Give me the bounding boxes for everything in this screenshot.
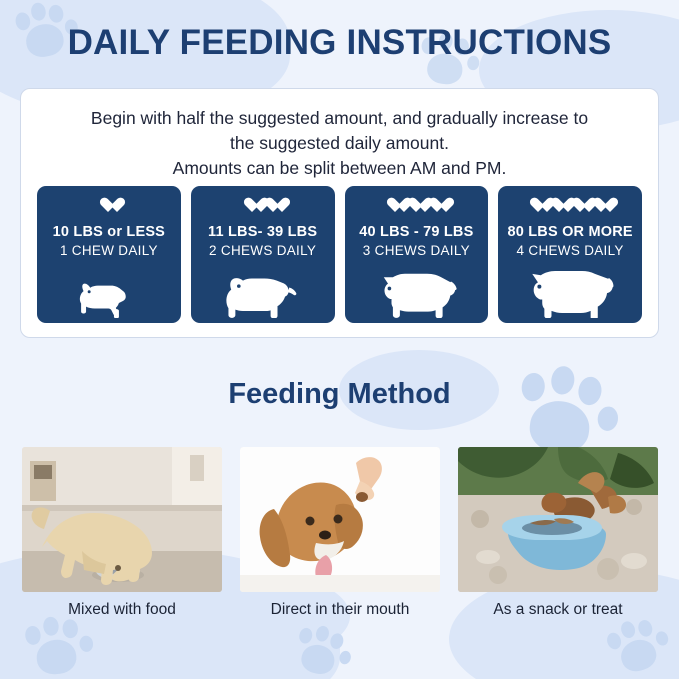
photo-item: Mixed with food xyxy=(22,447,222,619)
heart-icon xyxy=(244,198,261,214)
heart-icons xyxy=(502,195,638,217)
dosage-tile: 11 LBS- 39 LBS 2 CHEWS DAILY xyxy=(191,186,335,323)
tile-weight-label: 11 LBS- 39 LBS xyxy=(195,224,331,240)
page-title: DAILY FEEDING INSTRUCTIONS xyxy=(0,22,679,64)
feeding-method-title: Feeding Method xyxy=(0,378,679,411)
photo-caption: As a snack or treat xyxy=(458,601,658,619)
heart-icons xyxy=(41,195,177,217)
instructions-note: Begin with half the suggested amount, an… xyxy=(21,89,658,181)
tile-weight-label: 10 LBS or LESS xyxy=(41,224,177,240)
dog-eating-from-bowl-photo xyxy=(22,447,222,592)
tile-dose-label: 4 CHEWS DAILY xyxy=(502,243,638,258)
small-dog-icon xyxy=(37,272,181,318)
tile-weight-label: 80 LBS OR MORE xyxy=(502,224,638,240)
dosage-tile: 10 LBS or LESS 1 CHEW DAILY xyxy=(37,186,181,323)
heart-icon xyxy=(572,198,589,214)
heart-icon xyxy=(100,198,117,214)
large-dog-icon xyxy=(345,272,489,318)
medium-dog-icon xyxy=(191,272,335,318)
photo-caption: Mixed with food xyxy=(22,601,222,619)
heart-icon xyxy=(429,198,446,214)
heart-icons xyxy=(195,195,331,217)
tile-dose-label: 1 CHEW DAILY xyxy=(41,243,177,258)
heart-icon xyxy=(387,198,404,214)
heart-icons xyxy=(349,195,485,217)
feeding-instructions-page: DAILY FEEDING INSTRUCTIONS Begin with ha… xyxy=(0,0,679,679)
note-line-1: Begin with half the suggested amount, an… xyxy=(49,106,630,131)
bowl-with-treats-photo xyxy=(458,447,658,592)
tile-weight-label: 40 LBS - 79 LBS xyxy=(349,224,485,240)
heart-icon xyxy=(551,198,568,214)
photo-item: Direct in their mouth xyxy=(240,447,440,619)
tile-dose-label: 3 CHEWS DAILY xyxy=(349,243,485,258)
dosage-tiles: 10 LBS or LESS 1 CHEW DAILY 11 LBS- 39 L… xyxy=(37,186,642,323)
tile-dose-label: 2 CHEWS DAILY xyxy=(195,243,331,258)
heart-icon xyxy=(593,198,610,214)
dosage-tile: 40 LBS - 79 LBS 3 CHEWS DAILY xyxy=(345,186,489,323)
heart-icon xyxy=(408,198,425,214)
note-line-3: Amounts can be split between AM and PM. xyxy=(49,156,630,181)
heart-icon xyxy=(265,198,282,214)
photo-item: As a snack or treat xyxy=(458,447,658,619)
instructions-card: Begin with half the suggested amount, an… xyxy=(20,88,659,338)
feeding-method-photos: Mixed with food xyxy=(22,447,657,619)
heart-icon xyxy=(530,198,547,214)
photo-caption: Direct in their mouth xyxy=(240,601,440,619)
hand-feeding-chew-photo xyxy=(240,447,440,592)
dosage-tile: 80 LBS OR MORE 4 CHEWS DAILY xyxy=(498,186,642,323)
xlarge-dog-icon xyxy=(498,272,642,318)
note-line-2: the suggested daily amount. xyxy=(49,131,630,156)
